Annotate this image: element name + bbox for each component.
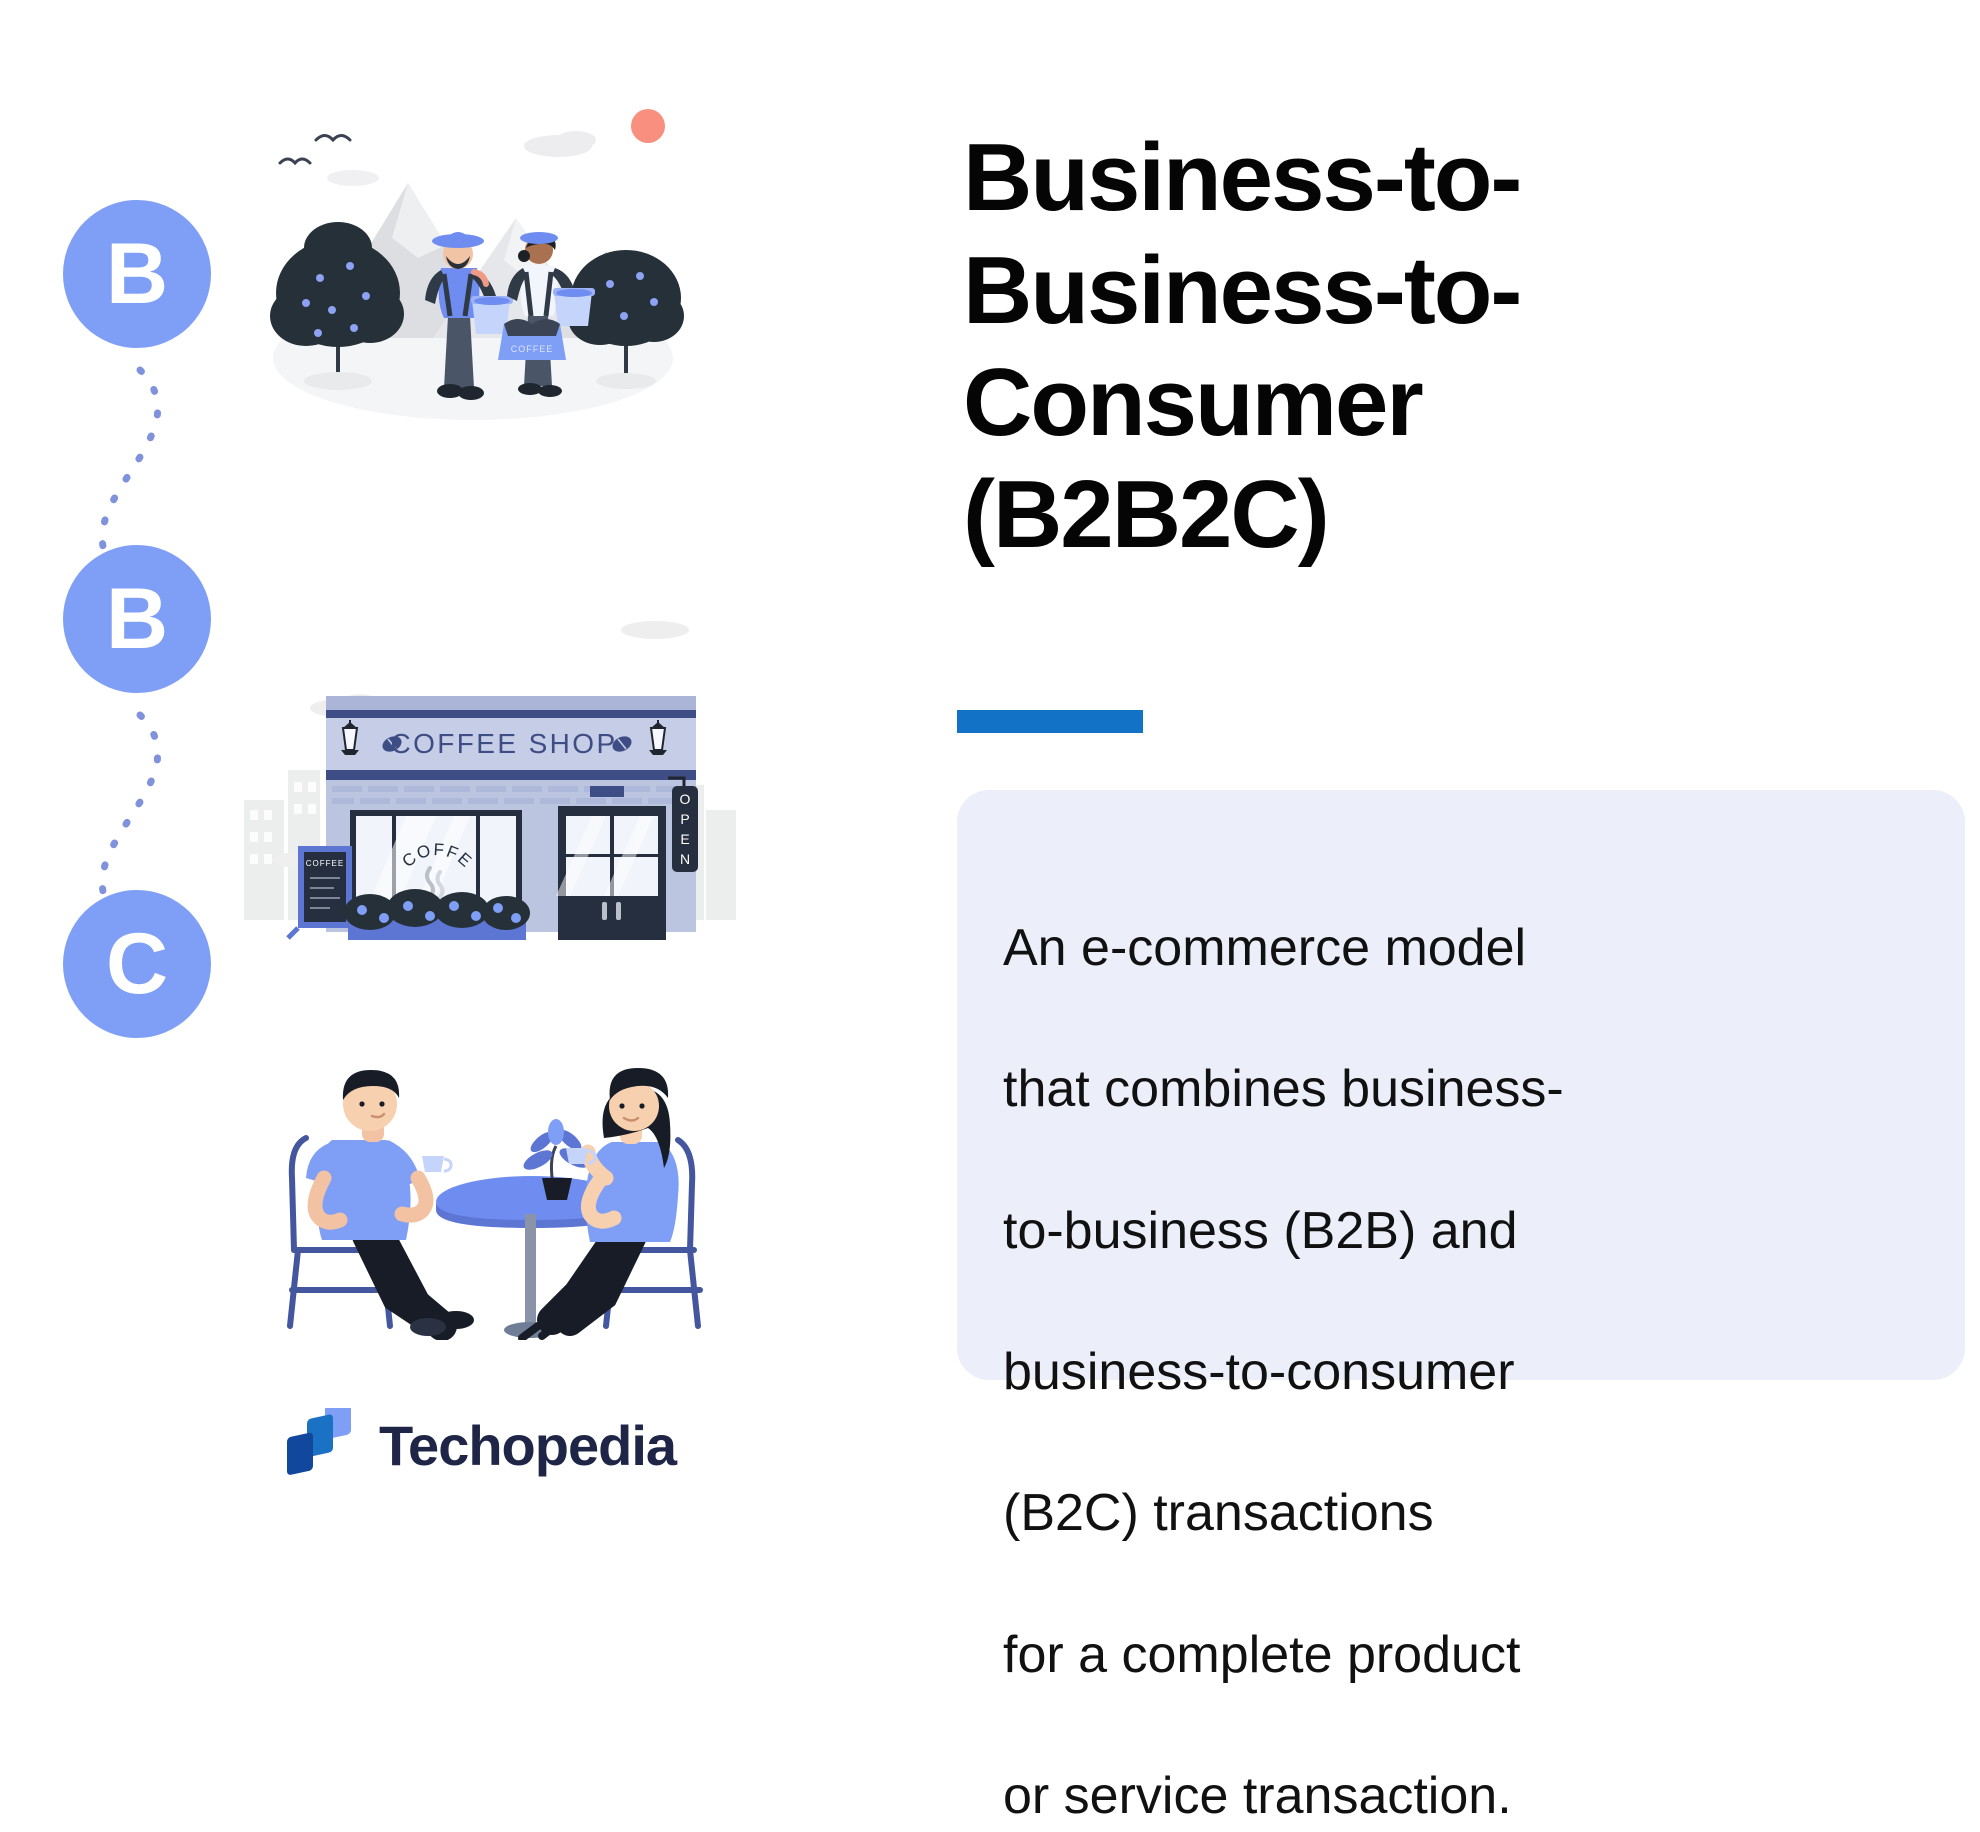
- step-badge-business-1[interactable]: B: [63, 200, 211, 348]
- techopedia-mark-icon: [285, 1408, 359, 1482]
- right-content-column: Business-to- Business-to- Consumer (B2B2…: [945, 0, 1980, 1577]
- definition-text: An e-commerce model that combines busine…: [1003, 842, 1919, 1832]
- definition-line: that combines business-: [1003, 1060, 1564, 1118]
- svg-text:E: E: [680, 831, 689, 847]
- coffee-shop-illustration: COFFEE SHOP: [240, 600, 740, 940]
- coffee-sack: COFFEE: [498, 319, 566, 360]
- svg-text:COFFEE: COFFEE: [511, 344, 554, 354]
- step-badge-letter: B: [106, 576, 168, 662]
- definition-card: An e-commerce model that combines busine…: [957, 790, 1965, 1380]
- coffee-farm-illustration: COFFEE: [258, 88, 688, 428]
- techopedia-wordmark: Techopedia: [379, 1413, 676, 1478]
- title-line-4: (B2B2C): [963, 461, 1328, 568]
- title-line-3: Consumer: [963, 349, 1422, 456]
- definition-line: or service transaction.: [1003, 1767, 1512, 1825]
- definition-line: An e-commerce model: [1003, 919, 1526, 977]
- techopedia-logo[interactable]: Techopedia: [285, 1408, 676, 1482]
- title-line-2: Business-to-: [963, 237, 1520, 344]
- definition-line: business-to-consumer: [1003, 1343, 1515, 1401]
- step-badge-consumer[interactable]: C: [63, 890, 211, 1038]
- svg-text:N: N: [680, 851, 690, 867]
- title-accent-rule: [957, 710, 1143, 733]
- title-line-1: Business-to-: [963, 124, 1520, 231]
- svg-text:COFFEE: COFFEE: [306, 859, 344, 868]
- svg-text:O: O: [680, 791, 691, 807]
- step-badge-business-2[interactable]: B: [63, 545, 211, 693]
- svg-text:P: P: [680, 811, 689, 827]
- definition-line: to-business (B2B) and: [1003, 1202, 1518, 1260]
- left-illustration-column: B B C: [0, 0, 945, 1577]
- step-badge-letter: C: [106, 921, 168, 1007]
- definition-line: for a complete product: [1003, 1626, 1520, 1684]
- cafe-customers-illustration: [270, 1000, 730, 1340]
- definition-line: (B2C) transactions: [1003, 1484, 1434, 1542]
- svg-text:COFFEE SHOP: COFFEE SHOP: [390, 728, 617, 759]
- infographic-page: B B C: [0, 0, 1980, 1577]
- step-badge-letter: B: [106, 231, 168, 317]
- page-title: Business-to- Business-to- Consumer (B2B2…: [963, 122, 1963, 571]
